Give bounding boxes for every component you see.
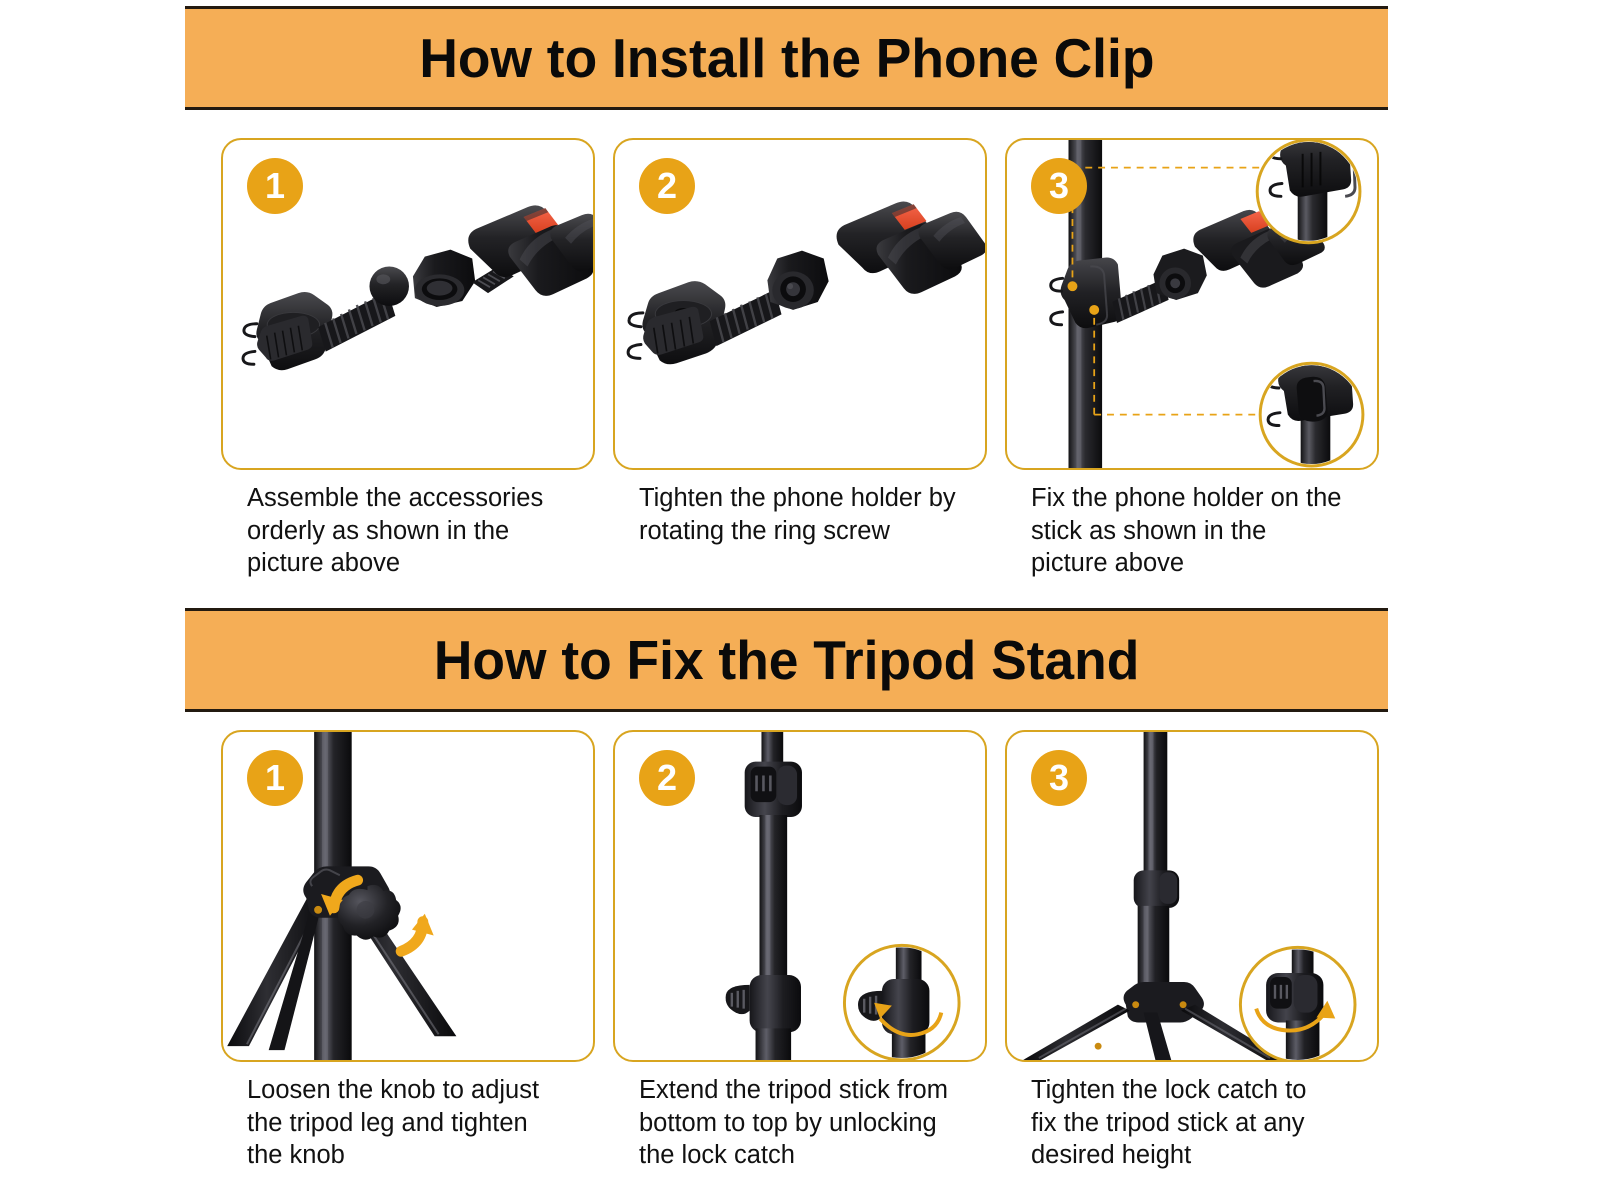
step-illustration-frame: 2	[613, 138, 987, 470]
step-number-badge: 3	[1031, 158, 1087, 214]
callout-anchor-dot-lower	[1089, 305, 1099, 315]
step-card-install-2: 2	[613, 138, 987, 580]
section-title: How to Fix the Tripod Stand	[434, 633, 1139, 688]
step-card-tripod-3: 3	[1005, 730, 1379, 1172]
lock-catch-tighten-detail-callout	[1240, 945, 1355, 1060]
section-banner-install-phone-clip: How to Install the Phone Clip	[185, 6, 1388, 110]
instruction-sheet: How to Install the Phone Clip 1	[0, 0, 1600, 1186]
callout-connector-lower	[1094, 310, 1270, 415]
step-caption: Assemble the accessories orderly as show…	[221, 482, 595, 580]
step-illustration-frame: 2	[613, 730, 987, 1062]
step-card-tripod-2: 2	[613, 730, 987, 1172]
clamp-closed-detail-callout	[1260, 351, 1363, 466]
step-card-tripod-1: 1	[221, 730, 595, 1172]
step-caption: Tighten the lock catch to fix the tripod…	[1005, 1074, 1379, 1172]
step-card-install-3: 3	[1005, 138, 1379, 580]
step-caption: Extend the tripod stick from bottom to t…	[613, 1074, 987, 1172]
step-caption: Fix the phone holder on the stick as sho…	[1005, 482, 1379, 580]
step-number-badge: 1	[247, 158, 303, 214]
steps-row-fix-tripod-stand: 1	[0, 730, 1600, 1172]
step-illustration-frame: 3	[1005, 730, 1379, 1062]
lock-catch-unlock-detail-callout	[844, 943, 959, 1060]
rotation-arrow-head-right	[412, 914, 434, 936]
step-illustration-frame: 3	[1005, 138, 1379, 470]
steps-row-install-phone-clip: 1	[0, 138, 1600, 580]
section-banner-fix-tripod-stand: How to Fix the Tripod Stand	[185, 608, 1388, 712]
step-illustration-frame: 1	[221, 730, 595, 1062]
step-card-install-1: 1	[221, 138, 595, 580]
clamp-open-detail-callout	[1257, 140, 1360, 243]
step-caption: Loosen the knob to adjust the tripod leg…	[221, 1074, 595, 1172]
step-illustration-frame: 1	[221, 138, 595, 470]
section-title: How to Install the Phone Clip	[419, 31, 1154, 86]
step-number-badge: 1	[247, 750, 303, 806]
step-caption: Tighten the phone holder by rotating the…	[613, 482, 987, 547]
step-number-badge: 2	[639, 750, 695, 806]
callout-anchor-dot-upper	[1068, 281, 1078, 291]
step-number-badge: 2	[639, 158, 695, 214]
step-number-badge: 3	[1031, 750, 1087, 806]
